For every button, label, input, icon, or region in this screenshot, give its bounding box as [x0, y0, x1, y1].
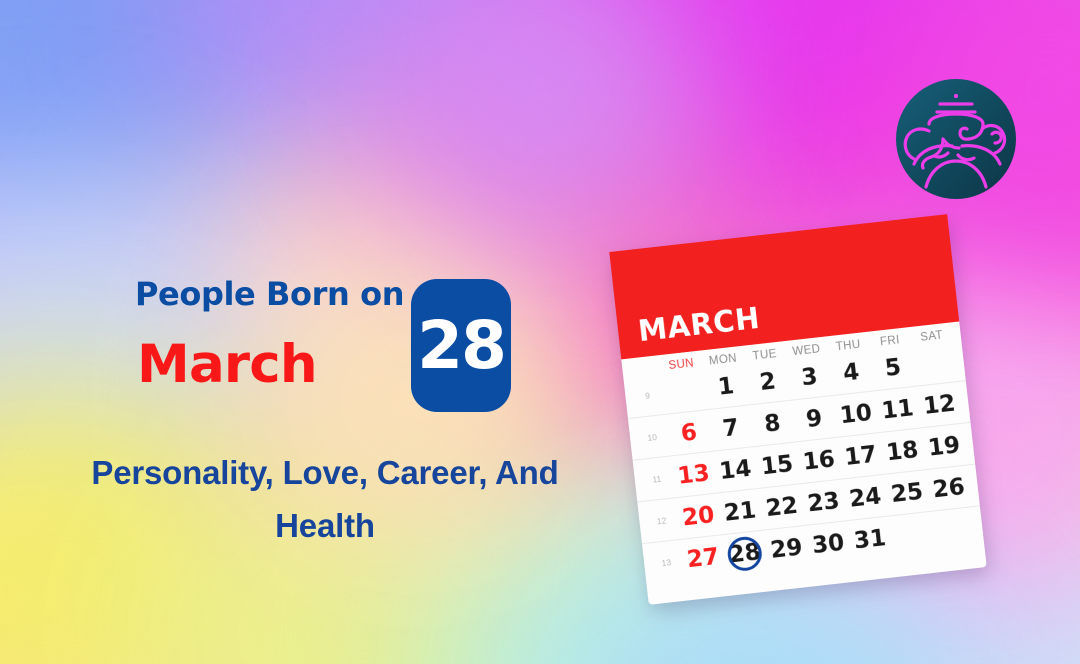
- calendar-day[interactable]: 17: [838, 441, 883, 472]
- calendar-day-empty: [891, 532, 933, 537]
- calendar-day[interactable]: 19: [922, 431, 967, 462]
- calendar-day[interactable]: 31: [848, 524, 893, 555]
- calendar-day[interactable]: 21: [718, 496, 763, 527]
- calendar-grid: 9123451067891011121113141516171819122021…: [623, 339, 984, 585]
- calendar-day[interactable]: 12: [917, 389, 962, 420]
- page-title-line1: People Born on: [135, 275, 404, 313]
- calendar-day[interactable]: 11: [875, 394, 920, 425]
- calendar-day-empty: [914, 361, 956, 366]
- calendar-day[interactable]: 25: [885, 478, 930, 509]
- day-badge: 28: [411, 279, 511, 412]
- calendar-day-highlighted[interactable]: 28: [722, 538, 767, 569]
- calendar-day[interactable]: 27: [681, 543, 726, 574]
- calendar-body: SUN MON TUE WED THU FRI SAT 912345106789…: [621, 321, 986, 604]
- week-number: 9: [631, 388, 664, 402]
- week-number: 10: [636, 430, 669, 444]
- calendar-day[interactable]: 24: [843, 482, 888, 513]
- calendar-day[interactable]: 6: [667, 418, 712, 449]
- week-number: 11: [640, 472, 673, 486]
- birthday-banner: People Born on March 28 Personality, Lov…: [0, 0, 1080, 664]
- calendar-day[interactable]: 4: [829, 357, 874, 388]
- calendar-day-empty: [663, 389, 705, 394]
- calendar-day[interactable]: 16: [796, 445, 841, 476]
- calendar-day[interactable]: 22: [759, 492, 804, 523]
- calendar-day[interactable]: 10: [834, 399, 879, 430]
- calendar-day[interactable]: 9: [792, 403, 837, 434]
- calendar-day[interactable]: 1: [704, 371, 749, 402]
- calendar-day[interactable]: 13: [671, 459, 716, 490]
- calendar-day-empty: [933, 528, 975, 533]
- calendar-day[interactable]: 26: [926, 473, 971, 504]
- calendar-day[interactable]: 5: [871, 352, 916, 383]
- calendar-day[interactable]: 29: [764, 533, 809, 564]
- calendar-day[interactable]: 14: [713, 455, 758, 486]
- calendar-day[interactable]: 7: [708, 413, 753, 444]
- calendar-day[interactable]: 15: [755, 450, 800, 481]
- calendar-day[interactable]: 30: [806, 529, 851, 560]
- calendar-day[interactable]: 18: [880, 436, 925, 467]
- calendar-day[interactable]: 2: [745, 366, 790, 397]
- ganesha-logo-icon[interactable]: [896, 79, 1016, 199]
- calendar-day[interactable]: 20: [676, 501, 721, 532]
- week-number: 12: [645, 514, 678, 528]
- month-name: March: [137, 334, 317, 395]
- page-subtitle: Personality, Love, Career, And Health: [40, 446, 610, 553]
- march-calendar: MARCH SUN MON TUE WED THU FRI SAT 912345…: [609, 214, 986, 605]
- calendar-day[interactable]: 23: [801, 487, 846, 518]
- day-badge-label: 28: [417, 313, 505, 379]
- calendar-day[interactable]: 3: [787, 362, 832, 393]
- calendar-day[interactable]: 8: [750, 408, 795, 439]
- week-number: 13: [650, 555, 683, 569]
